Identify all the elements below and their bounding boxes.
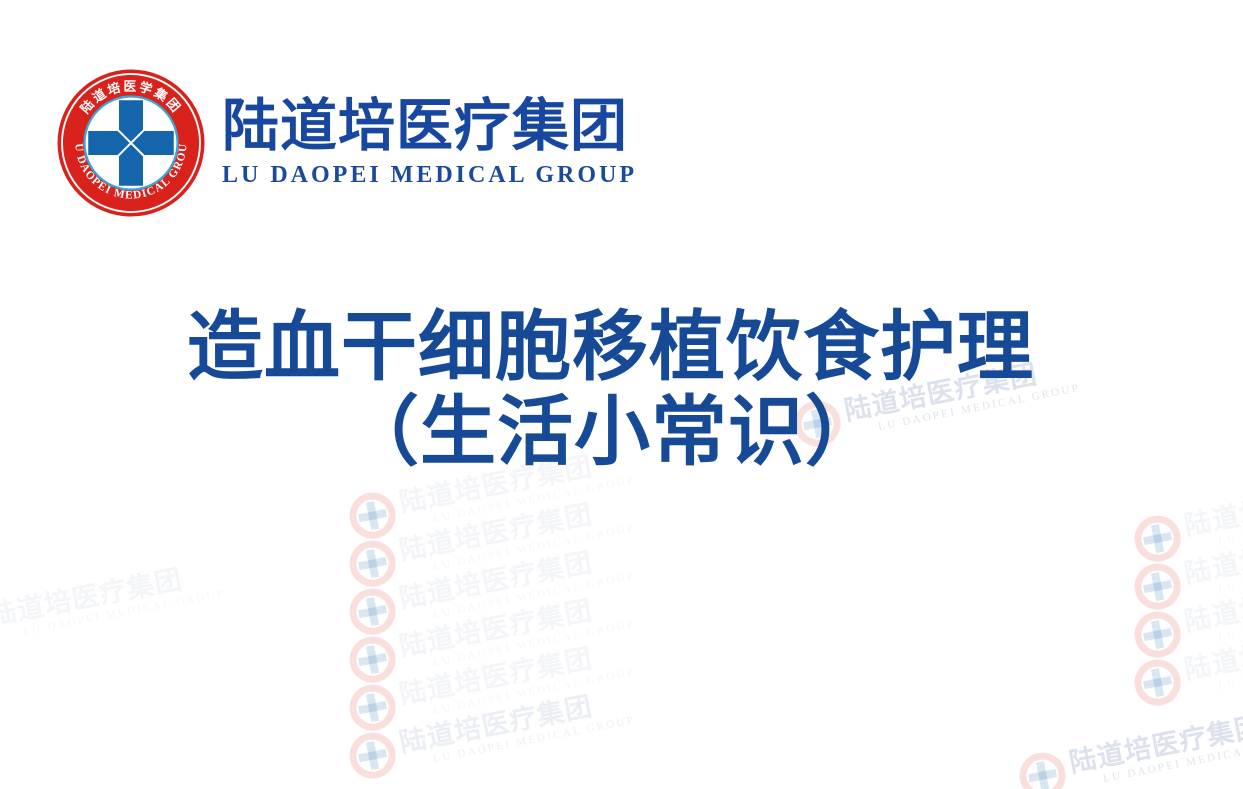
watermark-logo-icon (346, 537, 400, 591)
watermark-tile: 陆道培医疗集团 LU DAOPEI MEDICAL GROUP (1131, 514, 1243, 614)
watermark-en-text: LU DAOPEI MEDICAL GROUP (432, 714, 636, 764)
watermark-en-text: LU DAOPEI MEDICAL GROUP (1217, 545, 1243, 595)
watermark-tile: 陆道培医疗集团 LU DAOPEI MEDICAL GROUP (1131, 466, 1243, 566)
watermark-cn-text: 陆道培医疗集团 (1182, 612, 1243, 683)
watermark-en-text: LU DAOPEI MEDICAL GROUP (877, 382, 1081, 432)
watermark-cn-text: 陆道培医疗集团 (1182, 516, 1243, 587)
watermark-en-text: LU DAOPEI MEDICAL GROUP (432, 522, 636, 572)
watermark-tile: 陆道培医疗集团 LU DAOPEI MEDICAL GROUP (791, 351, 1082, 451)
slide-title-line-1: 造血干细胞移植饮食护理 (0, 305, 1243, 390)
watermark-logo-icon (1016, 749, 1070, 789)
brand-name-cn: 陆道培医疗集团 (222, 97, 637, 155)
watermark-tile: 陆道培医疗集团 LU DAOPEI MEDICAL GROUP (1131, 562, 1243, 662)
watermark-en-text: LU DAOPEI MEDICAL GROUP (1102, 734, 1243, 784)
watermark-cn-text: 陆道培医疗集团 (397, 493, 633, 564)
watermark-logo-icon (346, 729, 400, 783)
watermark-en-text: LU DAOPEI MEDICAL GROUP (22, 587, 226, 637)
watermark-en-text: LU DAOPEI MEDICAL GROUP (432, 618, 636, 668)
brand-header: 陆道培医学集团 LU DAOPEI MEDICAL GROUP 陆道培医疗集团 … (56, 68, 637, 218)
watermark-cn-text: 陆道培医疗集团 (1182, 564, 1243, 635)
watermark-cn-text: 陆道培医疗集团 (397, 541, 633, 612)
slide-title-line-2: （生活小常识） (0, 390, 1243, 475)
watermark-tile: 陆道培医疗集团 LU DAOPEI MEDICAL GROUP (1131, 610, 1243, 710)
brand-name-en: LU DAOPEI MEDICAL GROUP (222, 162, 637, 189)
watermark-cn-text: 陆道培医疗集团 (1182, 468, 1243, 539)
watermark-cn-text: 陆道培医疗集团 (397, 637, 633, 708)
watermark-logo-icon (791, 397, 845, 451)
watermark-logo-icon (1131, 656, 1185, 710)
watermark-tile: 陆道培医疗集团 LU DAOPEI MEDICAL GROUP (346, 635, 637, 735)
watermark-tile: 陆道培医疗集团 LU DAOPEI MEDICAL GROUP (346, 683, 637, 783)
watermark-cn-text: 陆道培医疗集团 (397, 589, 633, 660)
slide-title: 造血干细胞移植饮食护理 （生活小常识） (0, 305, 1243, 475)
presentation-slide: 陆道培医疗集团 LU DAOPEI MEDICAL GROUP 陆道培医疗集团 … (0, 0, 1243, 789)
brand-lockup: 陆道培医疗集团 LU DAOPEI MEDICAL GROUP (222, 97, 637, 188)
watermark-en-text: LU DAOPEI MEDICAL GROUP (1217, 641, 1243, 691)
watermark-cn-text: 陆道培医疗集团 (0, 558, 223, 629)
watermark-logo-icon (346, 585, 400, 639)
watermark-en-text: LU DAOPEI MEDICAL GROUP (432, 474, 636, 524)
watermark-logo-icon (346, 681, 400, 735)
watermark-en-text: LU DAOPEI MEDICAL GROUP (432, 666, 636, 716)
watermark-logo-icon (1131, 608, 1185, 662)
watermark-tile: 陆道培医疗集团 LU DAOPEI MEDICAL GROUP (346, 587, 637, 687)
watermark-tile: 陆道培医疗集团 LU DAOPEI MEDICAL GROUP (346, 443, 637, 543)
lu-daopei-circular-emblem-icon: 陆道培医学集团 LU DAOPEI MEDICAL GROUP (56, 68, 206, 218)
watermark-cn-text: 陆道培医疗集团 (397, 685, 633, 756)
watermark-cn-text: 陆道培医疗集团 (842, 353, 1078, 424)
watermark-logo-icon (346, 633, 400, 687)
watermark-tile: 陆道培医疗集团 LU DAOPEI MEDICAL GROUP (346, 491, 637, 591)
watermark-logo-icon (1131, 560, 1185, 614)
watermark-tile: 陆道培医疗集团 LU DAOPEI MEDICAL GROUP (0, 556, 227, 656)
watermark-tile: 陆道培医疗集团 LU DAOPEI MEDICAL GROUP (1016, 703, 1243, 789)
watermark-logo-icon (346, 489, 400, 543)
watermark-logo-icon (1131, 512, 1185, 566)
watermark-en-text: LU DAOPEI MEDICAL GROUP (1217, 497, 1243, 547)
watermark-cn-text: 陆道培医疗集团 (397, 445, 633, 516)
watermark-en-text: LU DAOPEI MEDICAL GROUP (1217, 593, 1243, 643)
watermark-en-text: LU DAOPEI MEDICAL GROUP (432, 570, 636, 620)
watermark-tile: 陆道培医疗集团 LU DAOPEI MEDICAL GROUP (346, 539, 637, 639)
watermark-cn-text: 陆道培医疗集团 (1067, 705, 1243, 776)
